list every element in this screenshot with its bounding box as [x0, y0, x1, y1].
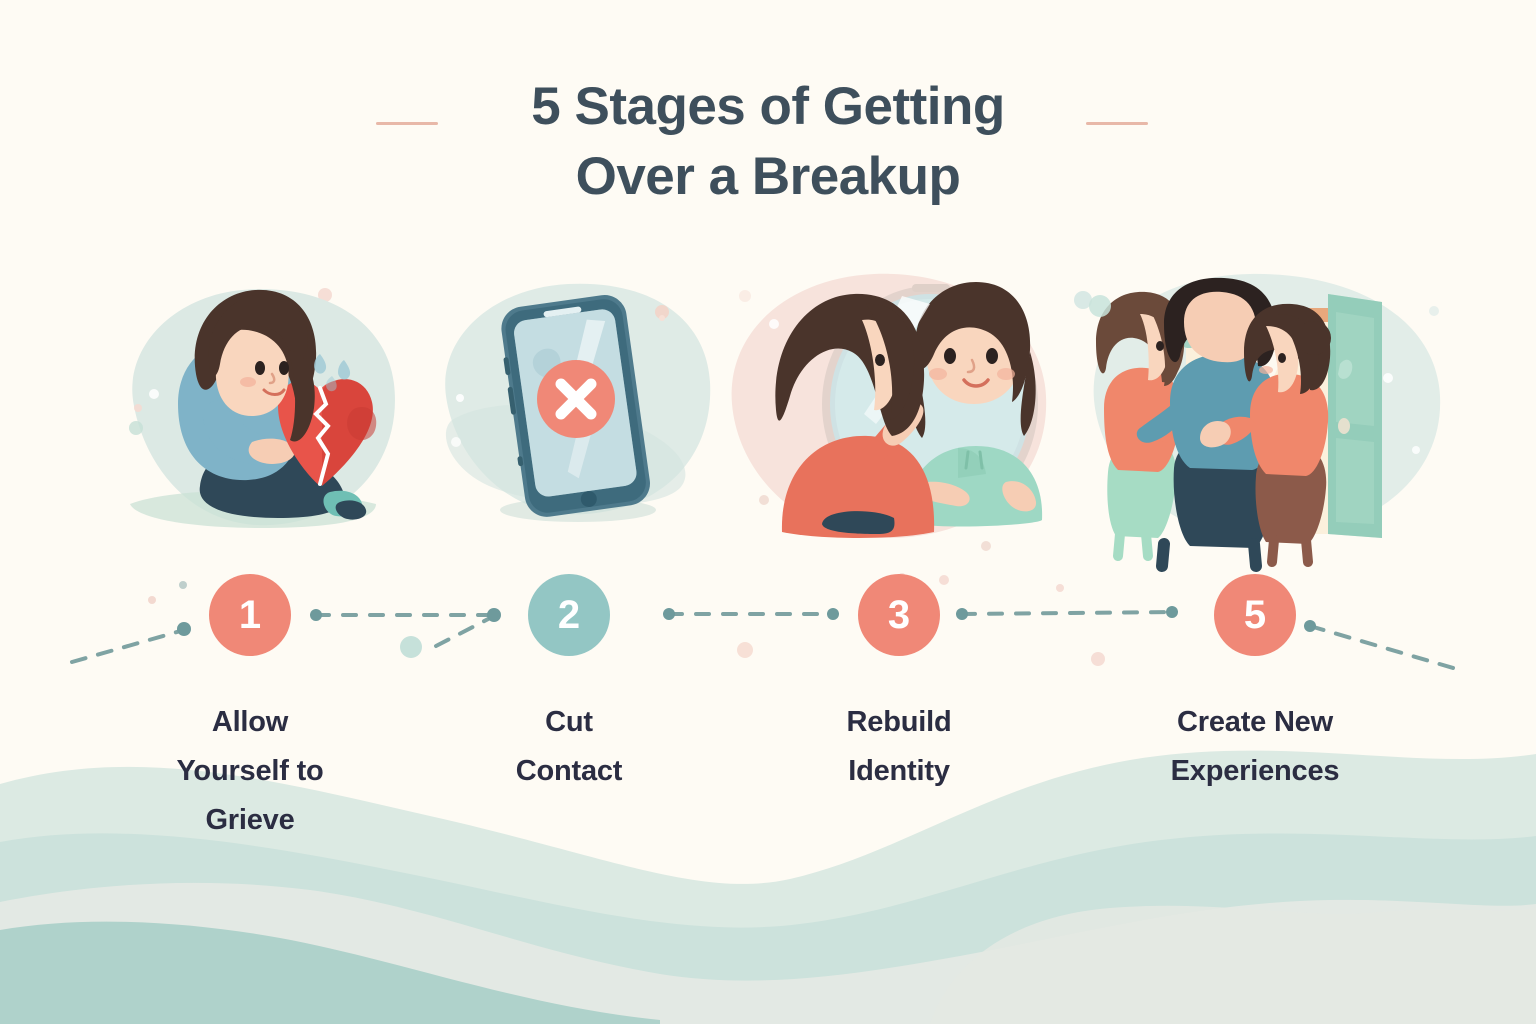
illustration-woman-holding-broken-heart — [92, 256, 412, 576]
page-title: 5 Stages of Getting Over a Breakup — [0, 72, 1536, 212]
step-1-number: 1 — [239, 595, 261, 635]
step-1-label: Allow Yourself to Grieve — [130, 698, 370, 845]
infographic-canvas: 5 Stages of Getting Over a Breakup — [0, 0, 1536, 1024]
x-badge — [537, 360, 615, 438]
title-line-2: Over a Breakup — [0, 142, 1536, 212]
step-5-number: 5 — [1244, 595, 1266, 635]
step-2-label: Cut Contact — [449, 698, 689, 796]
step-2[interactable]: 2 Cut Contact — [449, 574, 689, 796]
title-text-line-2: Over a Breakup — [576, 147, 961, 206]
step-2-number: 2 — [558, 595, 580, 635]
step-2-badge[interactable]: 2 — [528, 574, 610, 656]
illustration-phone-with-block-badge — [430, 256, 720, 566]
step-1-badge[interactable]: 1 — [209, 574, 291, 656]
illustration-friends-walking-through-door — [1078, 256, 1458, 576]
step-1[interactable]: 1 Allow Yourself to Grieve — [130, 574, 370, 845]
open-door — [1328, 294, 1382, 538]
step-3-badge[interactable]: 3 — [858, 574, 940, 656]
door-knob — [1338, 418, 1350, 434]
step-5-badge[interactable]: 5 — [1214, 574, 1296, 656]
steps-row: 1 Allow Yourself to Grieve 2 Cut Contact… — [0, 574, 1536, 924]
step-5[interactable]: 5 Create New Experiences — [1135, 574, 1375, 796]
title-text-line-1: 5 Stages of Getting — [531, 77, 1004, 136]
step-3[interactable]: 3 Rebuild Identity — [779, 574, 1019, 796]
title-line-1: 5 Stages of Getting — [0, 72, 1536, 142]
step-5-label: Create New Experiences — [1105, 698, 1405, 796]
step-3-number: 3 — [888, 595, 910, 635]
illustration-woman-looking-in-mirror — [718, 256, 1058, 576]
illustrations-row — [0, 256, 1536, 586]
step-3-label: Rebuild Identity — [779, 698, 1019, 796]
